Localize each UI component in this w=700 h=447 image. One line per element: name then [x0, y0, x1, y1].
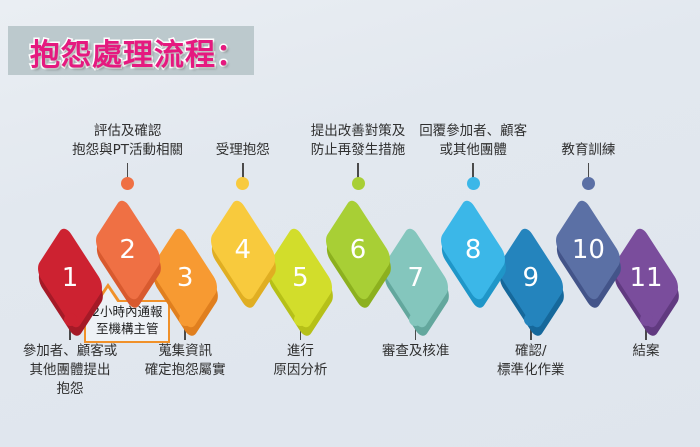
process-step-label-line: 抱怨: [0, 380, 190, 399]
connector-dot: [467, 177, 480, 190]
process-step-tile[interactable]: [438, 196, 508, 304]
connector-dot: [409, 313, 422, 326]
connector-dot: [640, 313, 653, 326]
flowchart-canvas: 抱怨處理流程： 1參加者、顧客或其他團體提出抱怨2評估及確認抱怨與PT活動相關3…: [0, 0, 700, 447]
callout-line-1: 2小時內通報: [92, 304, 162, 321]
connector-dot: [121, 177, 134, 190]
process-step-label-line: 評估及確認: [8, 122, 248, 141]
process-step-tile[interactable]: [553, 196, 623, 304]
process-step-label-line: 回覆參加者、顧客: [353, 122, 593, 141]
process-step-tile[interactable]: [323, 196, 393, 304]
process-step-label-line: 標準化作業: [411, 361, 651, 380]
connector-dot: [64, 313, 77, 326]
connector-dot: [294, 313, 307, 326]
process-step-label-line: 結案: [526, 342, 700, 361]
process-step-label-line: 教育訓練: [468, 141, 700, 160]
process-step-label: 教育訓練: [468, 141, 700, 160]
connector-dot: [179, 313, 192, 326]
connector-dot: [582, 177, 595, 190]
callout-line-2: 至機構主管: [92, 321, 162, 338]
connector-dot: [236, 177, 249, 190]
process-step-tile[interactable]: [208, 196, 278, 304]
page-title: 抱怨處理流程：: [30, 30, 247, 74]
connector-dot: [352, 177, 365, 190]
process-step-label: 結案: [526, 342, 700, 361]
process-step-label-line: 原因分析: [180, 361, 420, 380]
